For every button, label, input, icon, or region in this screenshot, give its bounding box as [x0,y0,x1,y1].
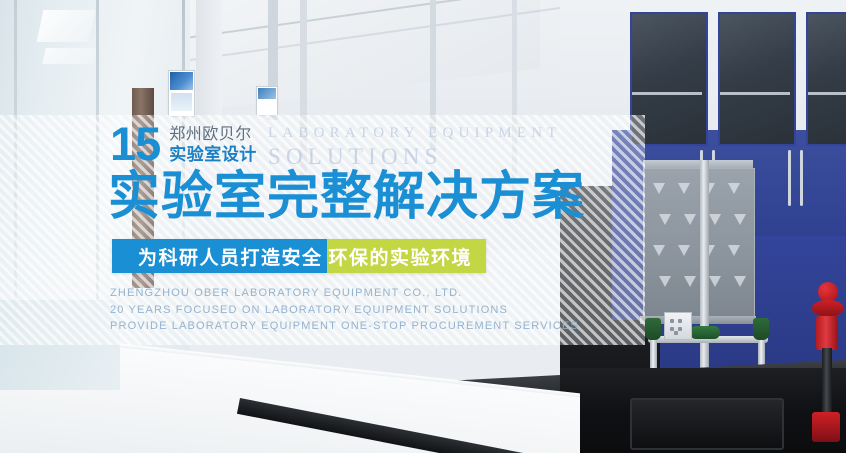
laboratory-promo-banner: LABORATORY EQUIPMENT SOLUTIONS 15 郑州欧贝尔 … [0,0,846,453]
english-subtitle-line: PROVIDE LABORATORY EQUIPMENT ONE-STOP PR… [110,318,579,335]
english-subtitle-line: 20 YEARS FOCUSED ON LABORATORY EQUIPMENT… [110,302,579,319]
tagline-ribbon-green-segment: 环保的实验环境 [327,239,487,273]
brand-service-name: 实验室设计 [169,144,257,165]
banner-text-content: LABORATORY EQUIPMENT SOLUTIONS 15 郑州欧贝尔 … [0,0,846,453]
kicker-row: 15 郑州欧贝尔 实验室设计 [110,122,257,166]
tagline-ribbon: 为科研人员打造安全 环保的实验环境 [112,239,486,273]
years-number: 15 [110,122,160,166]
english-subtitle-block: ZHENGZHOU OBER LABORATORY EQUIPMENT CO.,… [110,285,579,335]
page-title: 实验室完整解决方案 [108,169,585,225]
watermark-text: LABORATORY EQUIPMENT SOLUTIONS [268,124,562,171]
brand-stack: 郑州欧贝尔 实验室设计 [169,125,257,166]
watermark-line-1: LABORATORY EQUIPMENT [268,124,562,143]
tagline-green-text: 环保的实验环境 [329,243,473,270]
brand-company-name: 郑州欧贝尔 [169,125,257,144]
watermark-line-2: SOLUTIONS [268,143,562,171]
tagline-ribbon-blue-segment: 为科研人员打造安全 [112,239,327,273]
english-subtitle-line: ZHENGZHOU OBER LABORATORY EQUIPMENT CO.,… [110,285,579,302]
tagline-blue-text: 为科研人员打造安全 [138,243,323,270]
